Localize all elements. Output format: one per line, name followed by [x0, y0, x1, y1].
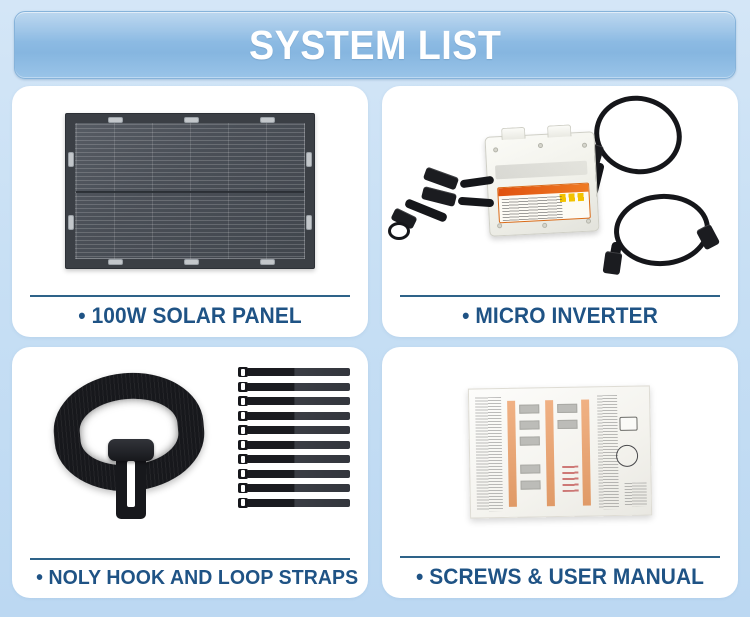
card-divider: [400, 556, 720, 558]
inverter-screw-tc: [538, 143, 543, 148]
card-micro-inverter[interactable]: • MICRO INVERTER: [382, 86, 738, 337]
manual-red-marking: [562, 465, 578, 491]
solar-panel-body: [65, 113, 315, 269]
card-screws-and-user-manual[interactable]: • SCREWS & USER MANUAL: [382, 347, 738, 598]
header-banner-surface: SYSTEM LIST: [14, 11, 736, 79]
inverter-warning-label: [497, 183, 591, 224]
page-title: SYSTEM LIST: [249, 25, 501, 66]
warning-triangle-icons: [560, 193, 586, 202]
dc-lead-lower: [458, 197, 494, 207]
strap-buckle-icon: [238, 367, 248, 377]
strap-item: [238, 469, 350, 479]
panel-grommet-top-right: [260, 117, 275, 123]
strap-item: [238, 396, 350, 406]
strap-band: [248, 470, 350, 478]
strap-buckle-icon: [238, 396, 248, 406]
strap-band: [248, 499, 350, 507]
card-label-micro-inverter: • MICRO INVERTER: [406, 304, 714, 329]
strap-band: [248, 397, 350, 405]
dc-cable-small-loop: [388, 222, 410, 240]
manual-gray-box: [557, 403, 577, 412]
manual-gray-box: [557, 419, 577, 428]
inverter-housing: [484, 131, 599, 237]
strap-buckle-icon: [238, 411, 248, 421]
inverter-mount-tab-left: [501, 127, 526, 140]
strap-band: [248, 455, 350, 463]
card-divider: [30, 558, 350, 560]
ac-connector-lower: [603, 251, 623, 275]
strap-item: [238, 425, 350, 435]
panel-grommet-left-bottom: [68, 215, 74, 230]
manual-gray-box: [520, 464, 540, 473]
strap-bundle: [238, 367, 350, 508]
panel-grommet-right-top: [306, 152, 312, 167]
card-hook-and-loop-straps[interactable]: • NOLY HOOK AND LOOP STRAPS: [12, 347, 368, 598]
large-strap-buckle: [108, 439, 154, 461]
strap-item: [238, 498, 350, 508]
panel-grommet-bottom-right: [260, 259, 275, 265]
large-strap-tail: [116, 457, 146, 519]
manual-orange-strip: [507, 400, 517, 506]
inverter-screw-bl: [497, 223, 502, 228]
strap-buckle-icon: [238, 498, 248, 508]
strap-buckle-icon: [238, 382, 248, 392]
strap-item: [238, 440, 350, 450]
header-banner: SYSTEM LIST: [14, 11, 736, 79]
card-screws-and-user-manual-footer: • SCREWS & USER MANUAL: [382, 556, 738, 598]
solar-panel-cells: [75, 123, 305, 259]
manual-orange-strip: [545, 400, 555, 506]
card-label-screws-and-user-manual: • SCREWS & USER MANUAL: [406, 565, 714, 590]
card-label-solar-panel: • 100W SOLAR PANEL: [36, 304, 344, 329]
card-solar-panel-footer: • 100W SOLAR PANEL: [12, 295, 368, 337]
strap-buckle-icon: [238, 469, 248, 479]
manual-wire-diagram: [616, 444, 638, 466]
strap-item: [238, 454, 350, 464]
inverter-screw-br: [586, 218, 591, 223]
strap-item: [238, 382, 350, 392]
manual-text-column: [625, 482, 647, 506]
manual-scene: [382, 347, 738, 556]
strap-buckle-icon: [238, 425, 248, 435]
strap-buckle-icon: [238, 483, 248, 493]
panel-grommet-top-center: [184, 117, 199, 123]
card-label-hook-and-loop-straps: • NOLY HOOK AND LOOP STRAPS: [36, 567, 344, 590]
warning-label-text: [502, 196, 563, 221]
manual-text-column: [475, 397, 503, 511]
panel-grommet-bottom-center: [184, 259, 199, 265]
manual-orange-strip: [581, 399, 591, 505]
inverter-brand-mark: [495, 161, 588, 180]
panel-grommet-left-top: [68, 152, 74, 167]
card-solar-panel[interactable]: • 100W SOLAR PANEL: [12, 86, 368, 337]
strap-band: [248, 412, 350, 420]
micro-inverter-photo: [382, 86, 738, 295]
strap-band: [248, 426, 350, 434]
strap-band: [248, 441, 350, 449]
panel-grommet-bottom-left: [108, 259, 123, 265]
strap-band: [248, 484, 350, 492]
panel-grommet-top-left: [108, 117, 123, 123]
strap-item: [238, 411, 350, 421]
inverter-screw-tl: [493, 147, 498, 152]
inverter-screw-bc: [542, 223, 547, 228]
card-micro-inverter-footer: • MICRO INVERTER: [382, 295, 738, 337]
micro-inverter-scene: [382, 86, 738, 295]
system-list-grid: • 100W SOLAR PANEL: [12, 86, 738, 598]
solar-panel-photo: [12, 86, 368, 295]
strap-band: [248, 383, 350, 391]
manual-gray-box: [519, 420, 539, 429]
manual-gray-box: [520, 436, 540, 445]
manual-gray-box: [519, 404, 539, 413]
strap-item: [238, 483, 350, 493]
inverter-mount-tab-right: [547, 124, 572, 137]
strap-buckle-icon: [238, 454, 248, 464]
manual-gray-box: [520, 480, 540, 489]
card-divider: [30, 295, 350, 297]
user-manual-sheet: [468, 385, 652, 518]
hook-and-loop-straps-photo: [12, 347, 368, 558]
card-hook-and-loop-straps-footer: • NOLY HOOK AND LOOP STRAPS: [12, 558, 368, 598]
screws-and-user-manual-photo: [382, 347, 738, 556]
card-divider: [400, 295, 720, 297]
strap-buckle-icon: [238, 440, 248, 450]
panel-grommet-right-bottom: [306, 215, 312, 230]
straps-scene: [12, 347, 368, 558]
strap-item: [238, 367, 350, 377]
strap-band: [248, 368, 350, 376]
inverter-screw-tr: [582, 143, 587, 148]
manual-diagram-box: [619, 416, 637, 430]
